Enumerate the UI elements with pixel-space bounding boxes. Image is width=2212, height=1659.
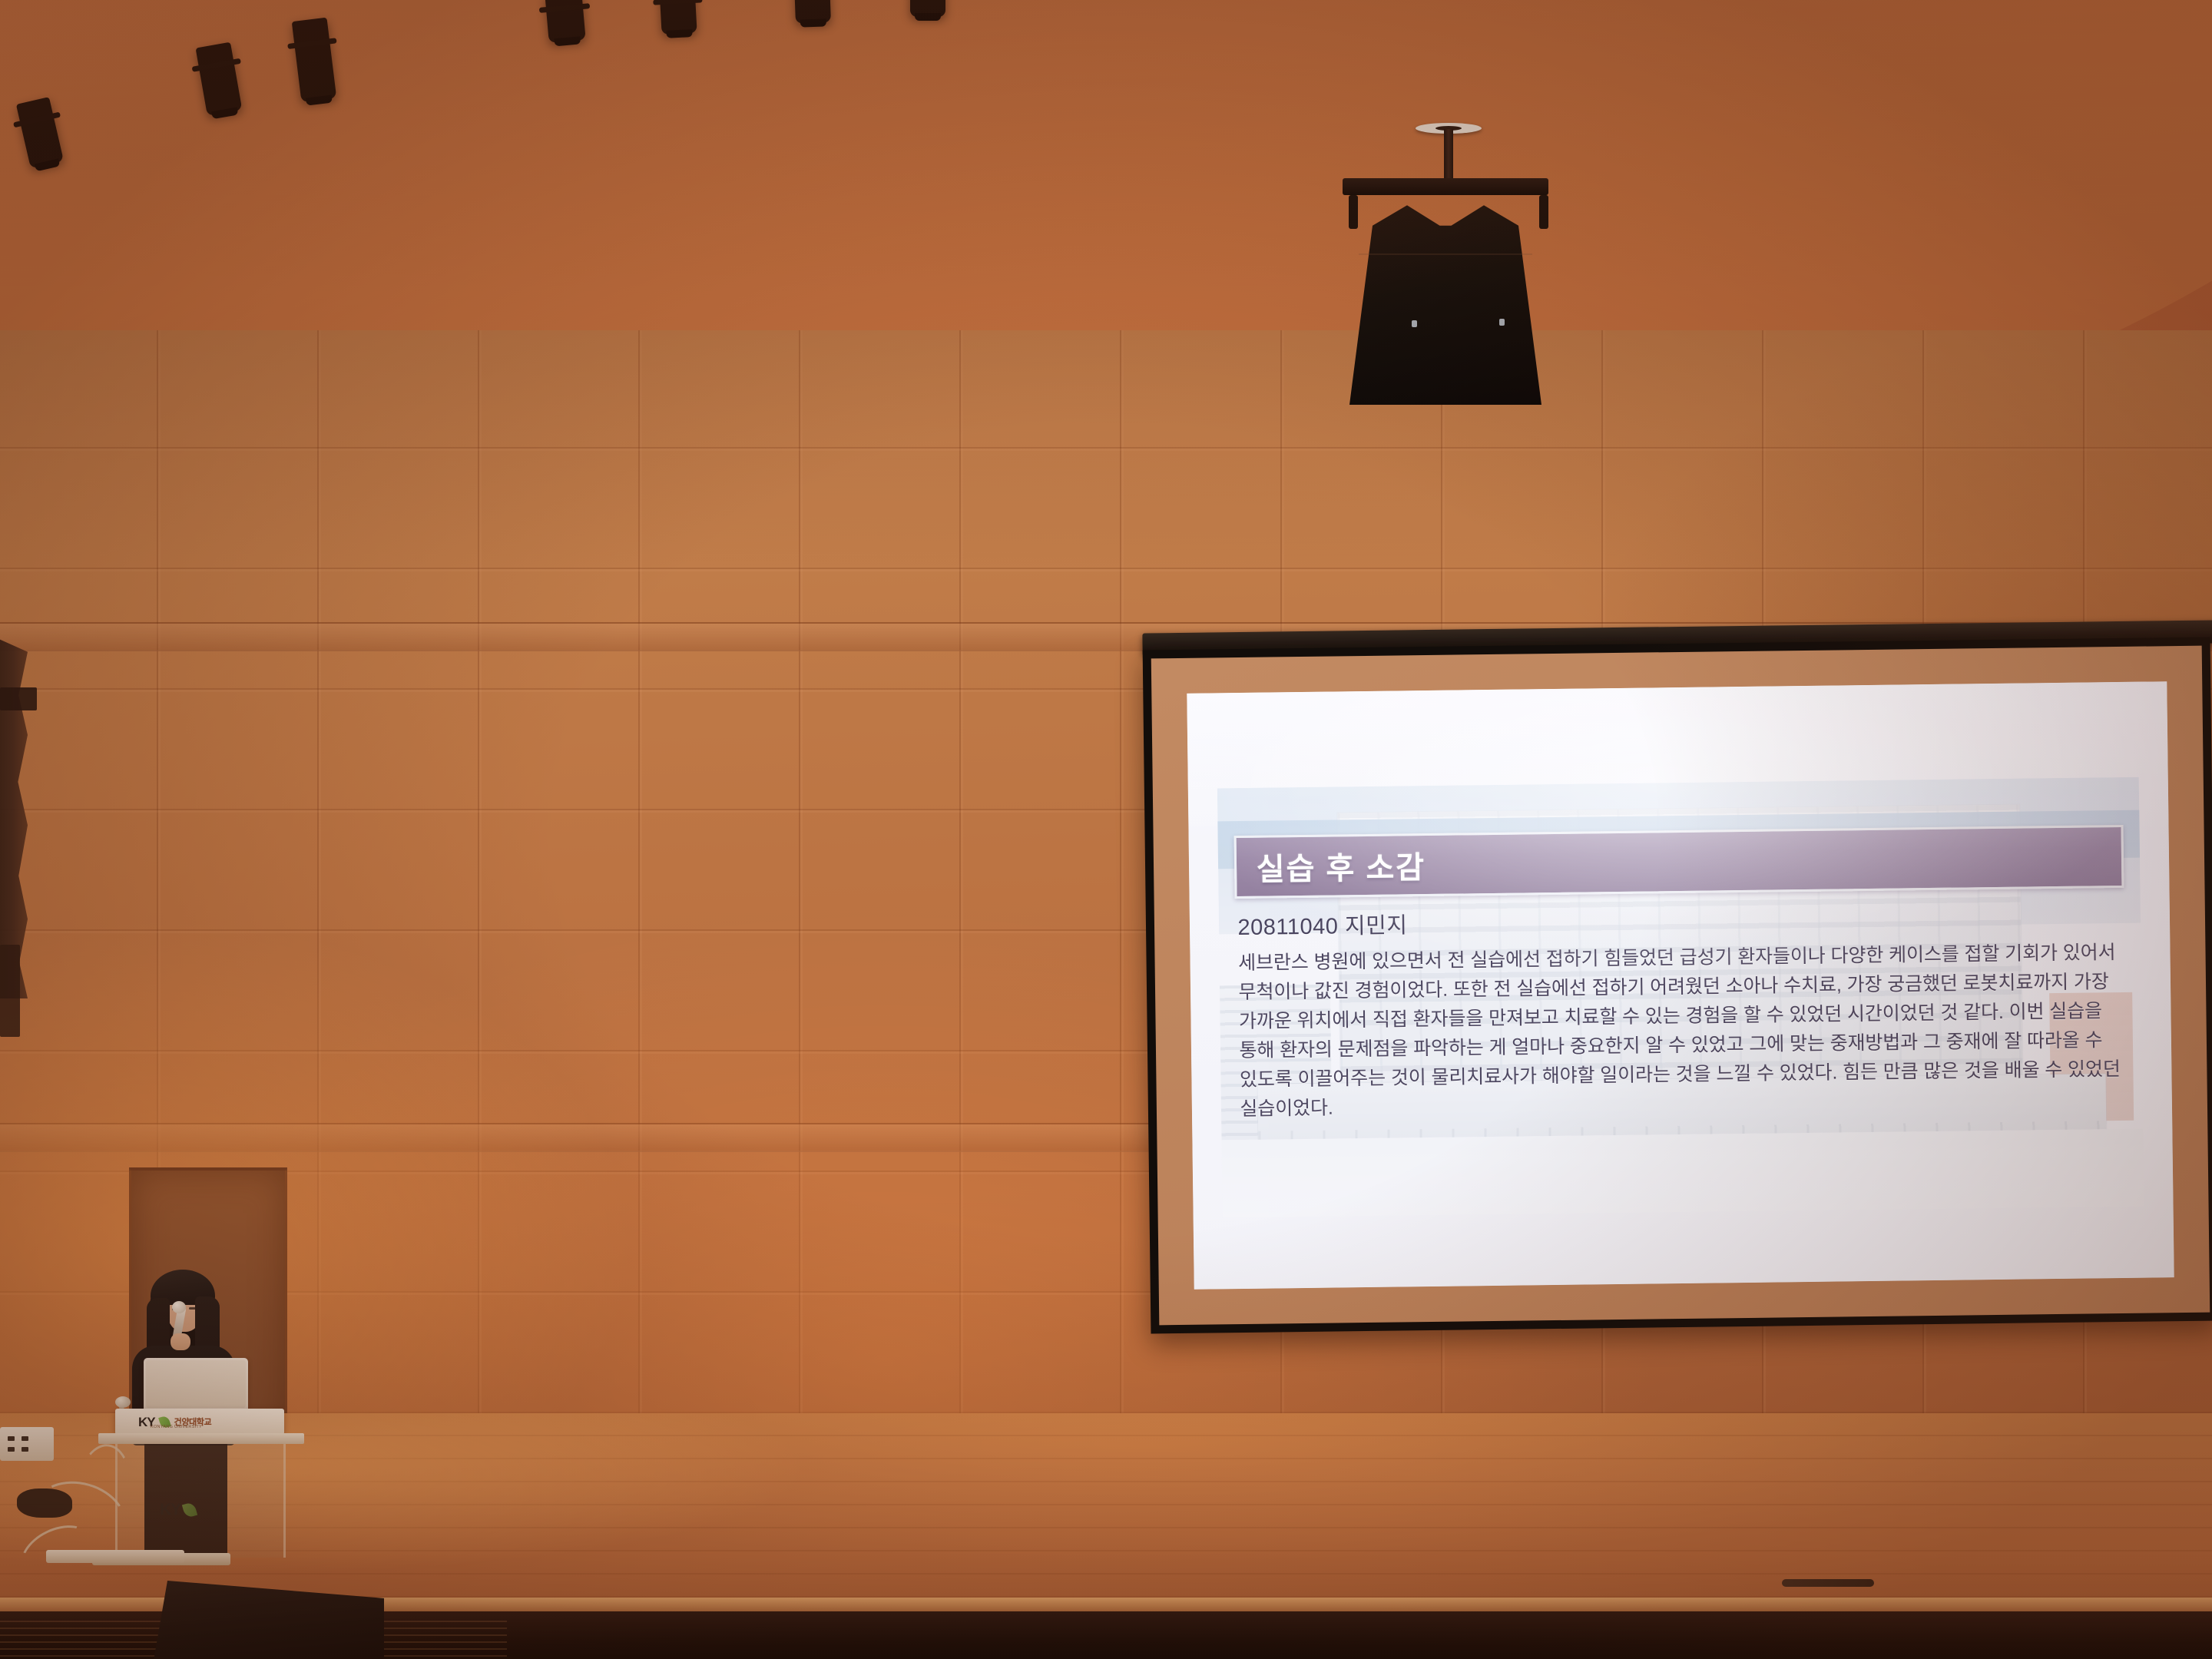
presentation-slide: 실습 후 소감 20811040 지민지 세브란스 병원에 있으면서 전 실습에… xyxy=(1187,681,2174,1290)
floor-cable-right xyxy=(1782,1579,1874,1587)
screen-matte-border: 실습 후 소감 20811040 지민지 세브란스 병원에 있으면서 전 실습에… xyxy=(1151,646,2210,1326)
gooseneck-mic-head xyxy=(115,1396,131,1408)
lectern-laptop[interactable] xyxy=(144,1358,248,1410)
screen-canvas: 실습 후 소감 20811040 지민지 세브란스 병원에 있으면서 전 실습에… xyxy=(1187,681,2174,1290)
screen-frame: 실습 후 소감 20811040 지민지 세브란스 병원에 있으면서 전 실습에… xyxy=(1143,637,2212,1334)
spotlight-yoke xyxy=(653,0,702,5)
outlet-socket-3 xyxy=(8,1447,15,1452)
slide-body: 20811040 지민지 세브란스 병원에 있으면서 전 실습에선 접하기 힘들… xyxy=(1237,899,2129,1124)
speaker-led-left xyxy=(1412,320,1417,327)
presenter-hand xyxy=(171,1333,190,1350)
stage-floor xyxy=(0,1413,2212,1613)
outlet-socket-2 xyxy=(22,1436,28,1441)
microphone-head xyxy=(172,1301,186,1313)
outlet-socket-4 xyxy=(22,1447,28,1452)
spotlight-6 xyxy=(794,0,831,24)
speaker-cabinet-seam xyxy=(1359,253,1532,255)
leaf-icon-large xyxy=(182,1502,197,1518)
left-wall-bracket xyxy=(0,687,37,710)
floor-light-sheen xyxy=(0,1413,2212,1613)
lectern-body-logo: KY xyxy=(160,1502,196,1518)
spotlight-yoke xyxy=(287,38,336,49)
spotlight-4 xyxy=(545,0,585,43)
projection-screen[interactable]: 실습 후 소감 20811040 지민지 세브란스 병원에 있으면서 전 실습에… xyxy=(1143,637,2212,1334)
laptop-screen xyxy=(146,1360,246,1408)
power-strip xyxy=(46,1550,184,1563)
spotlight-yoke xyxy=(13,112,61,128)
ky-logo-mark-large: KY xyxy=(160,1502,180,1518)
outlet-socket-1 xyxy=(8,1436,15,1441)
spotlight-lens xyxy=(915,13,940,21)
spotlight-5 xyxy=(659,0,697,35)
university-name-english: KONYANG UNIVERSITY xyxy=(151,1425,202,1429)
speaker-led-right xyxy=(1499,319,1505,326)
speaker-fly-ear-left xyxy=(1349,195,1358,229)
line-array-speaker xyxy=(1349,201,1541,405)
spotlight-7 xyxy=(910,0,945,17)
slide-title-bar: 실습 후 소감 xyxy=(1233,825,2124,899)
spotlight-yoke xyxy=(539,3,590,13)
spotlight-yoke xyxy=(192,58,241,72)
lectern-shelf xyxy=(98,1433,304,1444)
speaker-hang-rod xyxy=(1444,129,1453,184)
left-wall-equipment xyxy=(0,945,20,1037)
spotlight-lens xyxy=(667,29,693,38)
spotlight-lens xyxy=(800,18,826,27)
speaker-fly-bar xyxy=(1343,178,1548,195)
wall-outlet-plate xyxy=(0,1427,54,1461)
slide-paragraph: 세브란스 병원에 있으면서 전 실습에선 접하기 힘들었던 급성기 환자들이나 … xyxy=(1238,938,2129,1124)
speaker-fly-ear-right xyxy=(1539,195,1548,229)
auditorium-photo: 실습 후 소감 20811040 지민지 세브란스 병원에 있으면서 전 실습에… xyxy=(0,0,2212,1659)
slide-title: 실습 후 소감 xyxy=(1256,843,1426,889)
photo-foreground xyxy=(1222,1129,2144,1217)
